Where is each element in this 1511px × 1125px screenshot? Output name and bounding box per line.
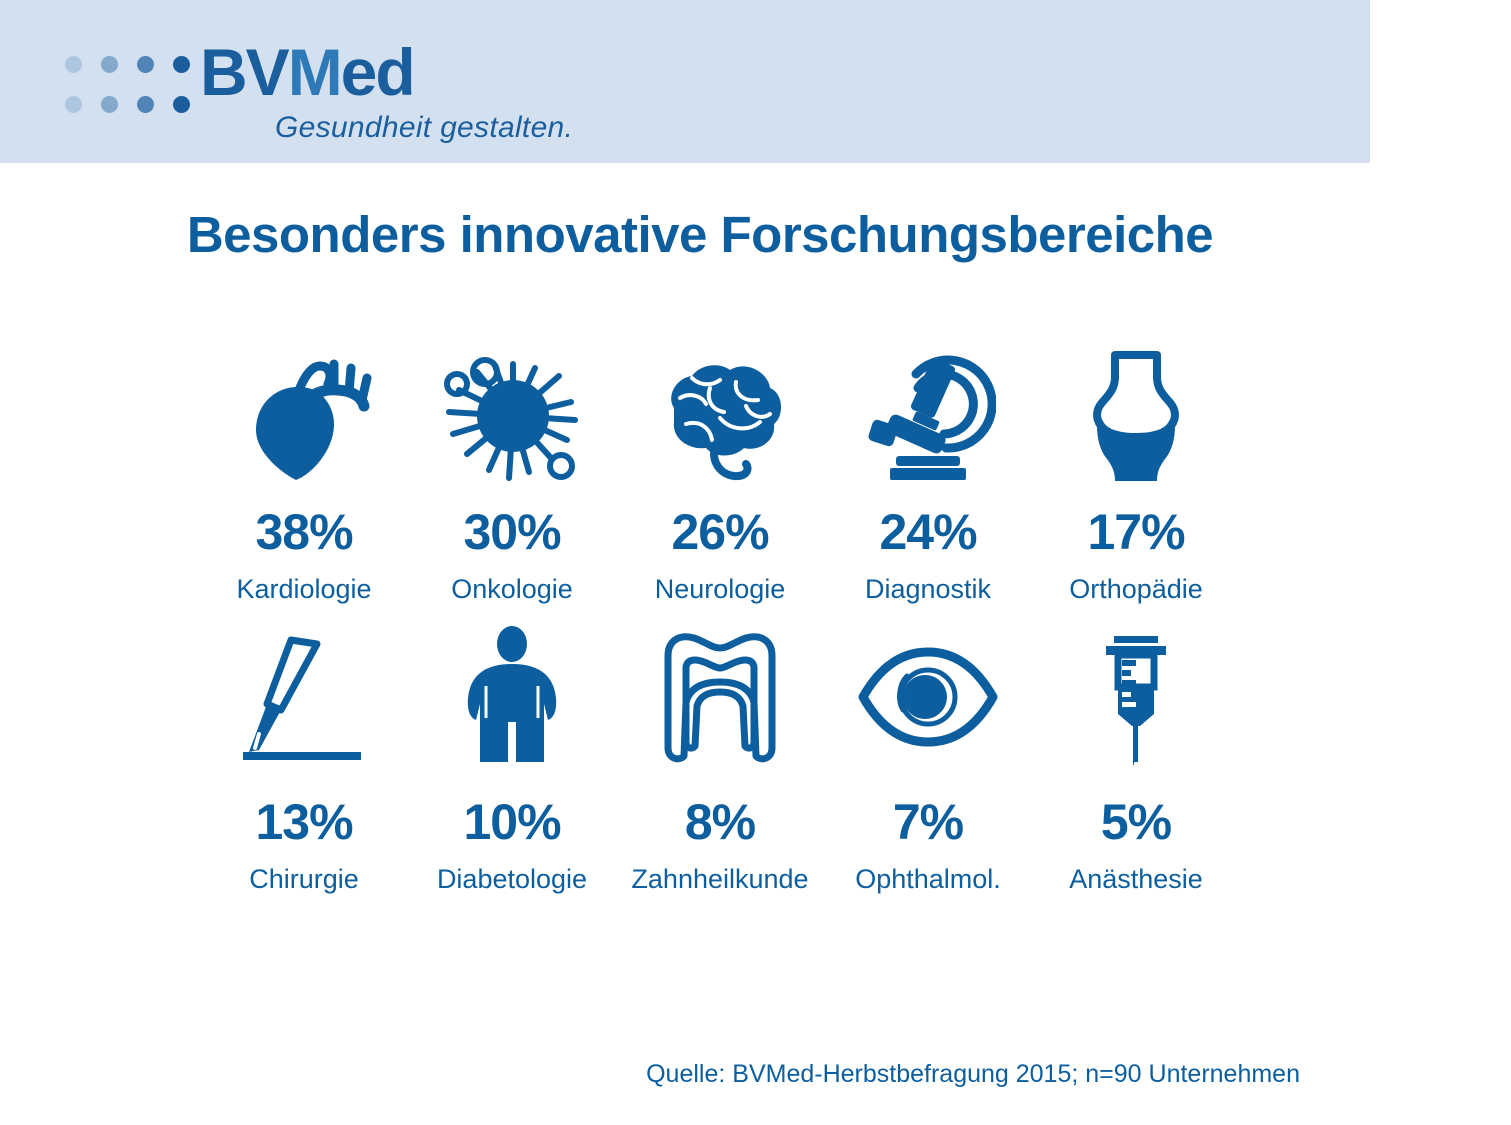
stat-label: Anästhesie bbox=[1069, 862, 1203, 896]
stat-item-onkologie[interactable]: 30% Onkologie bbox=[408, 345, 616, 606]
logo-dot bbox=[173, 96, 190, 113]
stat-label: Diagnostik bbox=[865, 572, 991, 606]
source-note: Quelle: BVMed-Herbstbefragung 2015; n=90… bbox=[0, 1060, 1300, 1089]
stat-label: Onkologie bbox=[451, 572, 573, 606]
logo-dot bbox=[101, 96, 118, 113]
stat-value: 26% bbox=[671, 504, 768, 560]
stat-value: 7% bbox=[893, 794, 963, 850]
logo-dots-pattern bbox=[65, 56, 209, 136]
logo-tagline: Gesundheit gestalten. bbox=[275, 111, 573, 145]
page-title: Besonders innovative Forschungsbereiche bbox=[0, 205, 1400, 264]
logo-dot bbox=[65, 56, 82, 73]
stat-item-neurologie[interactable]: 26% Neurologie bbox=[616, 345, 824, 606]
logo-wordmark-m: M bbox=[288, 35, 341, 109]
stat-item-diagnostik[interactable]: 24% Diagnostik bbox=[824, 345, 1032, 606]
stats-row: 13% Chirurgie 10% Diabetologie bbox=[200, 622, 1240, 896]
logo-dot bbox=[65, 96, 82, 113]
stat-label: Chirurgie bbox=[249, 862, 359, 896]
stat-value: 38% bbox=[255, 504, 352, 560]
stat-label: Zahnheilkunde bbox=[631, 862, 808, 896]
stats-row: 38% Kardiologie bbox=[200, 345, 1240, 606]
logo-dot bbox=[137, 56, 154, 73]
scalpel-icon bbox=[229, 622, 379, 772]
person-icon bbox=[456, 622, 568, 772]
stat-label: Kardiologie bbox=[236, 572, 371, 606]
logo-wordmark: BVMed bbox=[200, 33, 414, 111]
stat-label: Orthopädie bbox=[1069, 572, 1203, 606]
logo-dot bbox=[173, 56, 190, 73]
tooth-icon bbox=[658, 622, 782, 772]
heart-icon bbox=[234, 345, 374, 490]
stat-label: Neurologie bbox=[655, 572, 786, 606]
stat-label: Ophthalmol. bbox=[855, 862, 1001, 896]
logo-dot bbox=[137, 96, 154, 113]
knee-joint-icon bbox=[1073, 345, 1199, 490]
stat-value: 8% bbox=[685, 794, 755, 850]
bvmed-logo[interactable]: BVMed Gesundheit gestalten. bbox=[60, 33, 540, 148]
stat-item-anaesthesie[interactable]: 5% Anästhesie bbox=[1032, 622, 1240, 896]
stat-item-orthopaedie[interactable]: 17% Orthopädie bbox=[1032, 345, 1240, 606]
brain-icon bbox=[650, 345, 790, 490]
cancer-cell-icon bbox=[439, 345, 585, 490]
stat-value: 24% bbox=[879, 504, 976, 560]
stat-value: 10% bbox=[463, 794, 560, 850]
stat-label: Diabetologie bbox=[437, 862, 587, 896]
logo-dot bbox=[101, 56, 118, 73]
syringe-icon bbox=[1084, 622, 1188, 772]
stat-item-diabetologie[interactable]: 10% Diabetologie bbox=[408, 622, 616, 896]
stats-grid: 38% Kardiologie bbox=[200, 345, 1240, 896]
logo-wordmark-ed: ed bbox=[341, 35, 414, 109]
stat-item-ophthalmologie[interactable]: 7% Ophthalmol. bbox=[824, 622, 1032, 896]
microscope-icon bbox=[860, 345, 996, 490]
stat-item-chirurgie[interactable]: 13% Chirurgie bbox=[200, 622, 408, 896]
logo-wordmark-bv: BV bbox=[200, 35, 288, 109]
stat-value: 13% bbox=[255, 794, 352, 850]
stat-item-kardiologie[interactable]: 38% Kardiologie bbox=[200, 345, 408, 606]
stat-value: 17% bbox=[1087, 504, 1184, 560]
stat-item-zahnheilkunde[interactable]: 8% Zahnheilkunde bbox=[616, 622, 824, 896]
header-band: BVMed Gesundheit gestalten. bbox=[0, 0, 1370, 163]
stat-value: 5% bbox=[1101, 794, 1171, 850]
eye-icon bbox=[855, 622, 1001, 772]
stat-value: 30% bbox=[463, 504, 560, 560]
